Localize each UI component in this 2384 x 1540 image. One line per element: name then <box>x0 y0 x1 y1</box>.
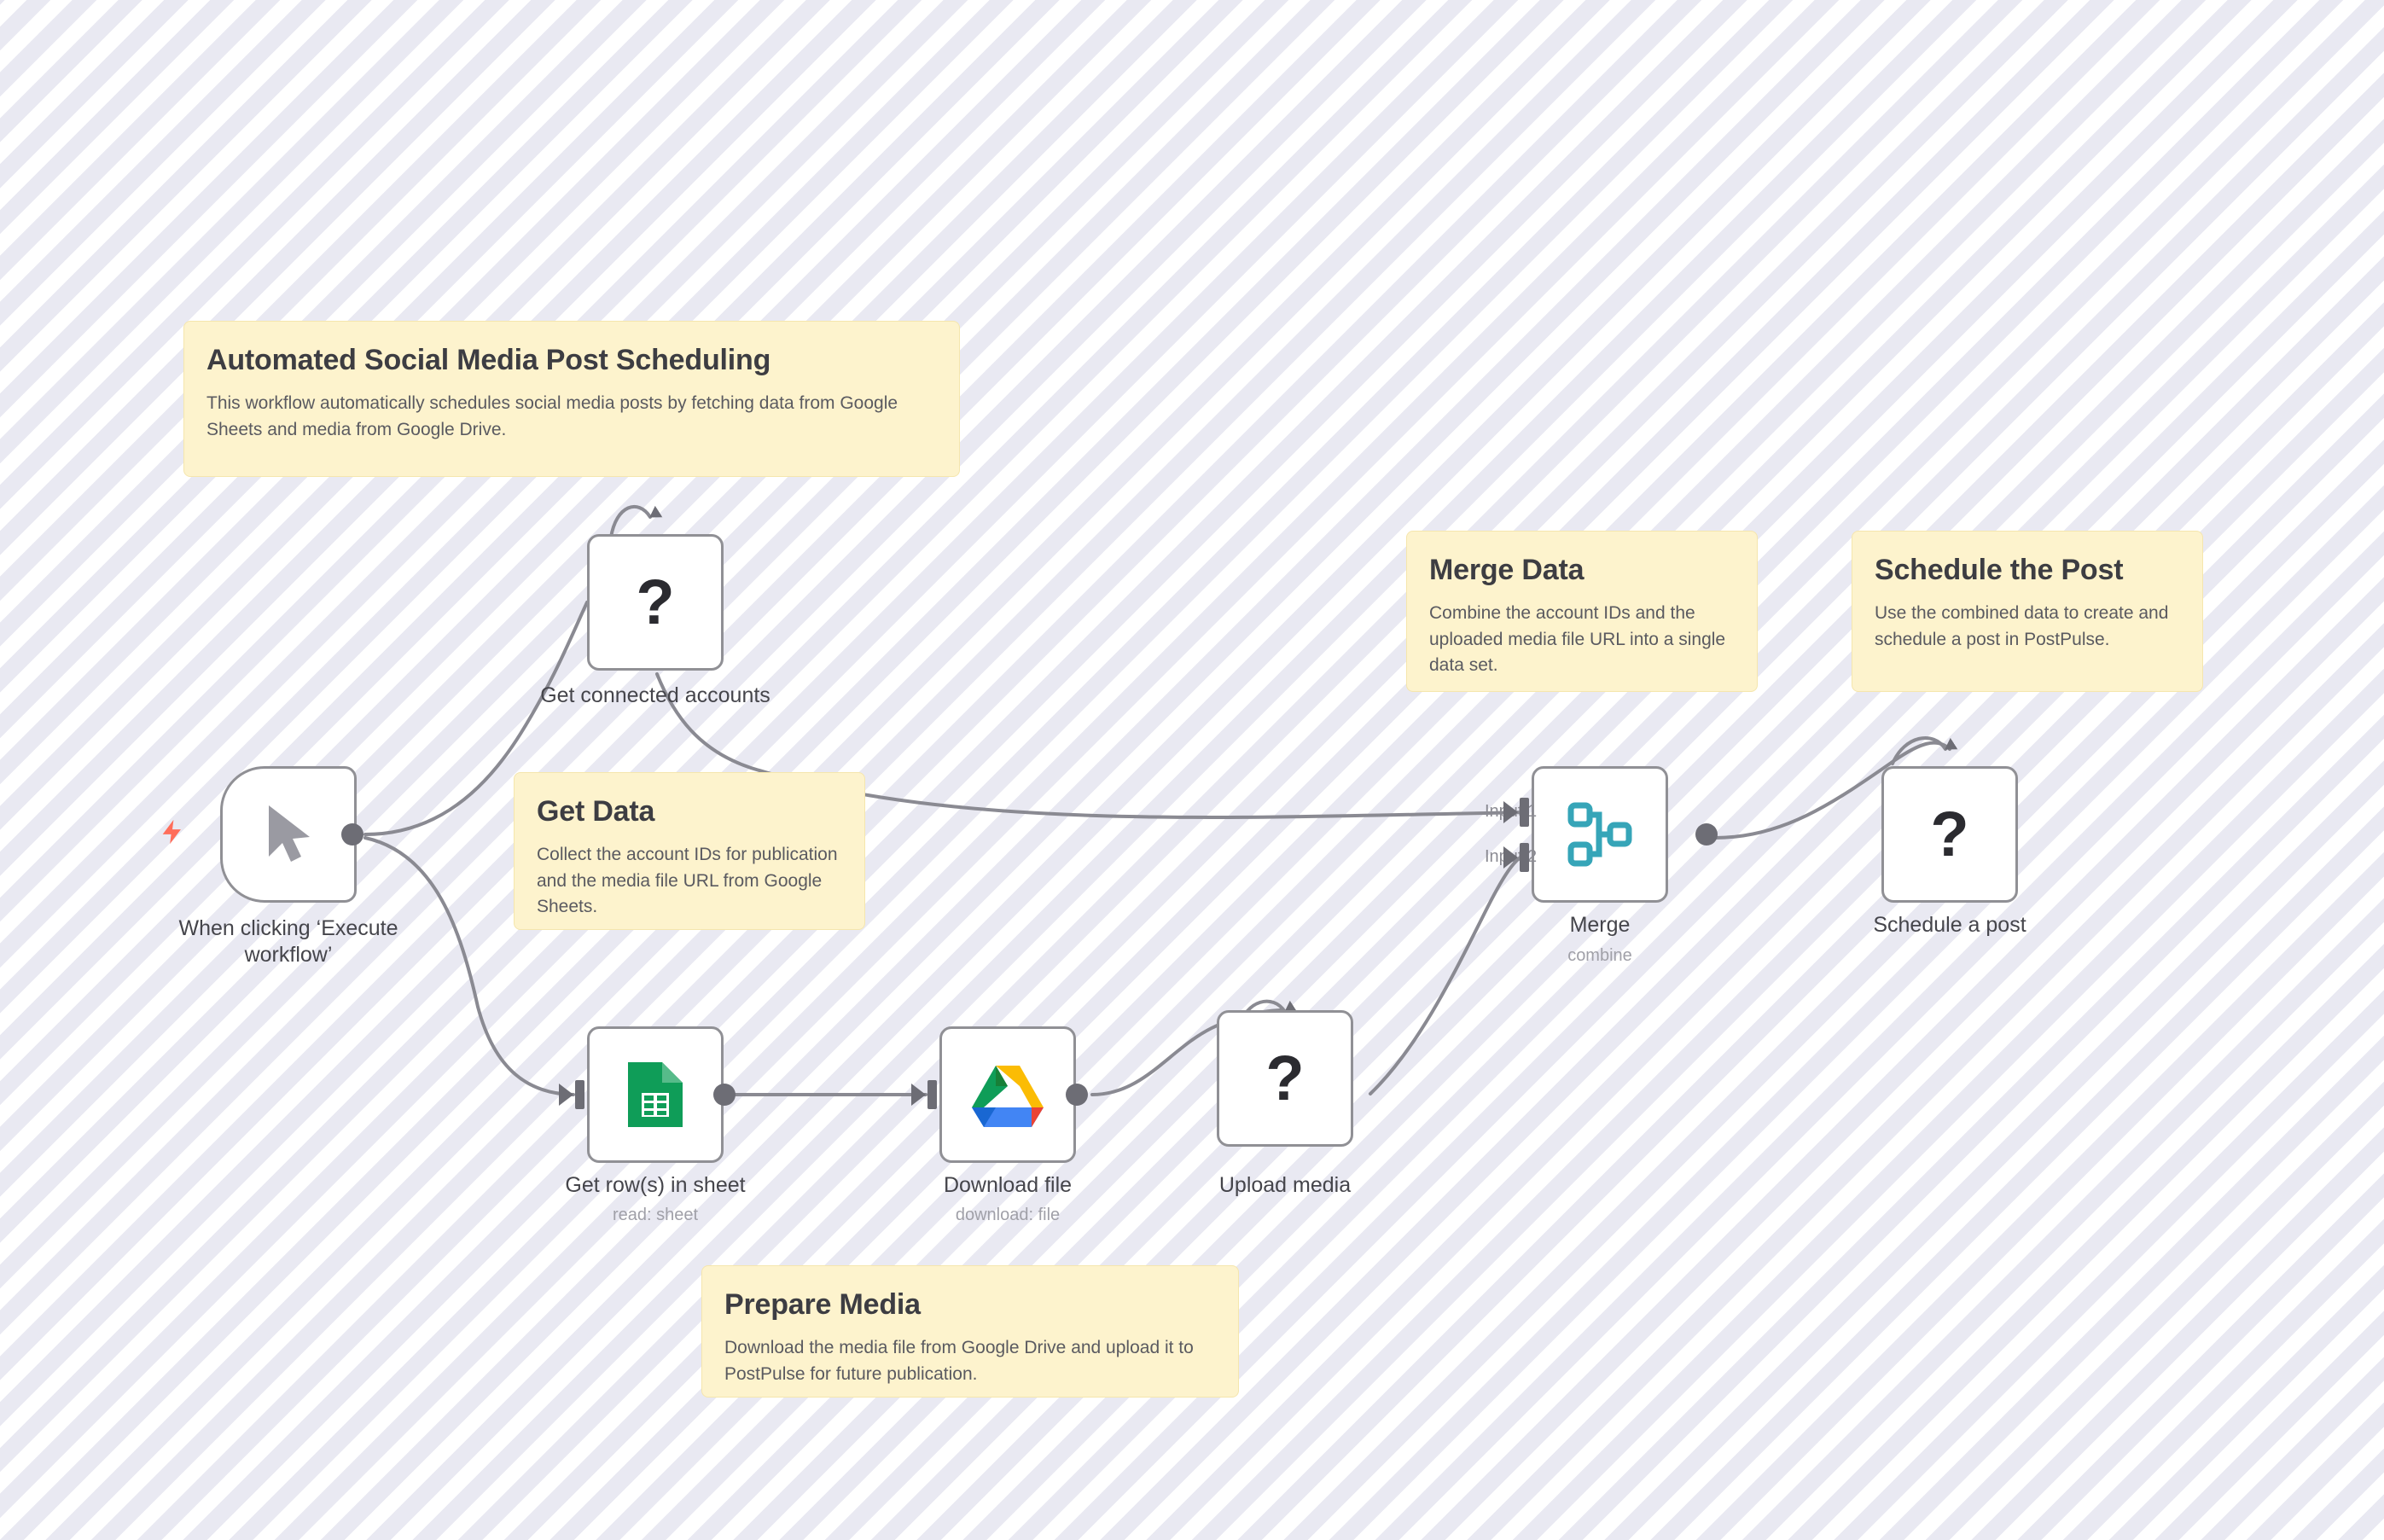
node-when-clicking-execute-workflow[interactable] <box>220 766 357 903</box>
output-endpoint-merge[interactable] <box>1695 823 1718 846</box>
edge-loop-schedule <box>1893 738 1945 764</box>
sticky-note-prepare-media[interactable]: Prepare Media Download the media file fr… <box>701 1265 1239 1398</box>
node-download-file[interactable] <box>939 1026 1076 1163</box>
input-arrow-merge-1 <box>1503 801 1518 823</box>
google-sheets-icon <box>623 1059 688 1130</box>
edge-loop-accounts <box>611 507 650 538</box>
input-endpoint-sheets[interactable] <box>575 1080 584 1109</box>
node-label-trigger: When clicking ‘Execute workflow’ <box>101 915 476 968</box>
sticky-note-title: Automated Social Media Post Scheduling <box>206 344 937 377</box>
sticky-note-schedule-post[interactable]: Schedule the Post Use the combined data … <box>1852 531 2203 692</box>
output-endpoint-drive[interactable] <box>1066 1084 1088 1106</box>
sticky-note-merge-data[interactable]: Merge Data Combine the account IDs and t… <box>1406 531 1758 692</box>
sticky-note-body: Collect the account IDs for publication … <box>537 842 842 920</box>
sticky-note-get-data[interactable]: Get Data Collect the account IDs for pub… <box>514 772 865 930</box>
sticky-note-body: This workflow automatically schedules so… <box>206 391 937 443</box>
workflow-canvas[interactable]: Automated Social Media Post Scheduling T… <box>0 0 2384 1540</box>
node-label-schedule-a-post: Schedule a post <box>1813 912 2086 939</box>
question-mark-icon: ? <box>636 571 674 634</box>
sticky-note-body: Combine the account IDs and the uploaded… <box>1429 601 1735 678</box>
node-label-upload-media: Upload media <box>1166 1172 1404 1199</box>
edge-upload-to-merge-input2 <box>1370 853 1527 1094</box>
sticky-note-body: Use the combined data to create and sche… <box>1875 601 2180 653</box>
question-mark-icon: ? <box>1265 1047 1304 1110</box>
node-sublabel-get-rows-in-sheet: read: sheet <box>519 1205 792 1225</box>
node-sublabel-merge: combine <box>1532 945 1668 966</box>
sticky-note-title: Merge Data <box>1429 554 1735 587</box>
sticky-note-overview[interactable]: Automated Social Media Post Scheduling T… <box>183 321 960 477</box>
input-arrow-merge-2 <box>1503 846 1518 869</box>
google-drive-icon <box>970 1061 1045 1129</box>
sticky-note-title: Schedule the Post <box>1875 554 2180 587</box>
input-endpoint-merge-2[interactable] <box>1520 843 1529 872</box>
node-get-rows-in-sheet[interactable] <box>587 1026 724 1163</box>
node-label-merge: Merge <box>1532 912 1668 939</box>
output-endpoint-trigger[interactable] <box>341 823 363 846</box>
node-label-get-connected-accounts: Get connected accounts <box>485 683 826 709</box>
node-get-connected-accounts[interactable]: ? <box>587 534 724 671</box>
sticky-note-title: Prepare Media <box>724 1288 1216 1322</box>
output-endpoint-sheets[interactable] <box>713 1084 736 1106</box>
input-endpoint-drive[interactable] <box>927 1080 937 1109</box>
cursor-pointer-icon <box>262 802 315 867</box>
node-merge[interactable] <box>1532 766 1668 903</box>
input-endpoint-merge-1[interactable] <box>1520 798 1529 827</box>
node-label-get-rows-in-sheet: Get row(s) in sheet <box>519 1172 792 1199</box>
node-schedule-a-post[interactable]: ? <box>1881 766 2018 903</box>
input-arrow-sheets <box>559 1084 573 1106</box>
node-label-download-file: Download file <box>871 1172 1144 1199</box>
input-arrow-drive <box>911 1084 926 1106</box>
node-upload-media[interactable]: ? <box>1217 1010 1353 1147</box>
sticky-note-body: Download the media file from Google Driv… <box>724 1335 1216 1387</box>
sticky-note-title: Get Data <box>537 795 842 828</box>
question-mark-icon: ? <box>1930 803 1968 866</box>
node-sublabel-download-file: download: file <box>871 1205 1144 1225</box>
lightning-bolt-icon <box>158 817 187 846</box>
merge-branch-icon <box>1567 801 1633 868</box>
